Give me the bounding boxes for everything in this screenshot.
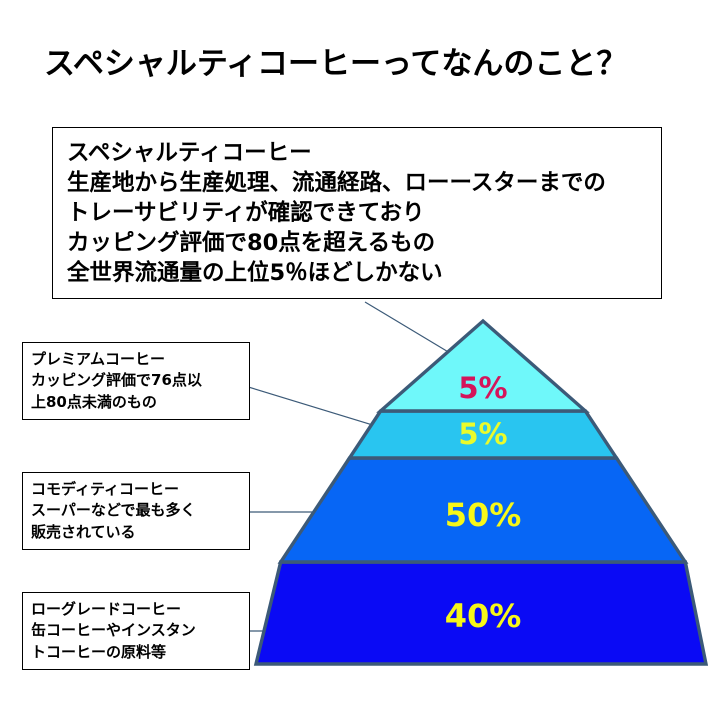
definition-line-2: 生産地から生産処理、流通経路、ローースターまでの xyxy=(67,169,661,199)
commodity-line-2: スーパーなどで最も多く xyxy=(31,500,249,521)
definition-line-4: カッピング評価で80点を超えるもの xyxy=(67,229,661,259)
pct-label-lowgrade: 40% xyxy=(445,597,522,635)
definition-line-1: スペシャルティコーヒー xyxy=(67,139,661,169)
slide-canvas: スペシャルティコーヒーってなんのこと？ 5% 5% 50% 40% xyxy=(0,0,720,720)
pct-label-commodity: 50% xyxy=(445,496,522,534)
lowgrade-coffee-callout: ローグレードコーヒー 缶コーヒーやインスタン トコーヒーの原料等 xyxy=(22,592,250,670)
lowgrade-line-1: ローグレードコーヒー xyxy=(31,599,249,620)
premium-line-3: 上80点未満のもの xyxy=(31,392,249,413)
premium-line-2: カッピング評価で76点以 xyxy=(31,370,249,391)
specialty-coffee-definition-box: スペシャルティコーヒー 生産地から生産処理、流通経路、ローースターまでの トレー… xyxy=(52,127,662,299)
premium-line-1: プレミアムコーヒー xyxy=(31,349,249,370)
commodity-line-3: 販売されている xyxy=(31,522,249,543)
definition-line-3: トレーサビリティが確認できており xyxy=(67,199,661,229)
pct-label-specialty: 5% xyxy=(458,371,507,405)
pct-label-premium: 5% xyxy=(458,417,507,451)
lowgrade-line-3: トコーヒーの原料等 xyxy=(31,642,249,663)
lowgrade-line-2: 缶コーヒーやインスタン xyxy=(31,620,249,641)
commodity-coffee-callout: コモディティコーヒー スーパーなどで最も多く 販売されている xyxy=(22,472,250,550)
premium-coffee-callout: プレミアムコーヒー カッピング評価で76点以 上80点未満のもの xyxy=(22,342,250,420)
commodity-line-1: コモディティコーヒー xyxy=(31,479,249,500)
definition-line-5: 全世界流通量の上位5％ほどしかない xyxy=(67,259,661,289)
